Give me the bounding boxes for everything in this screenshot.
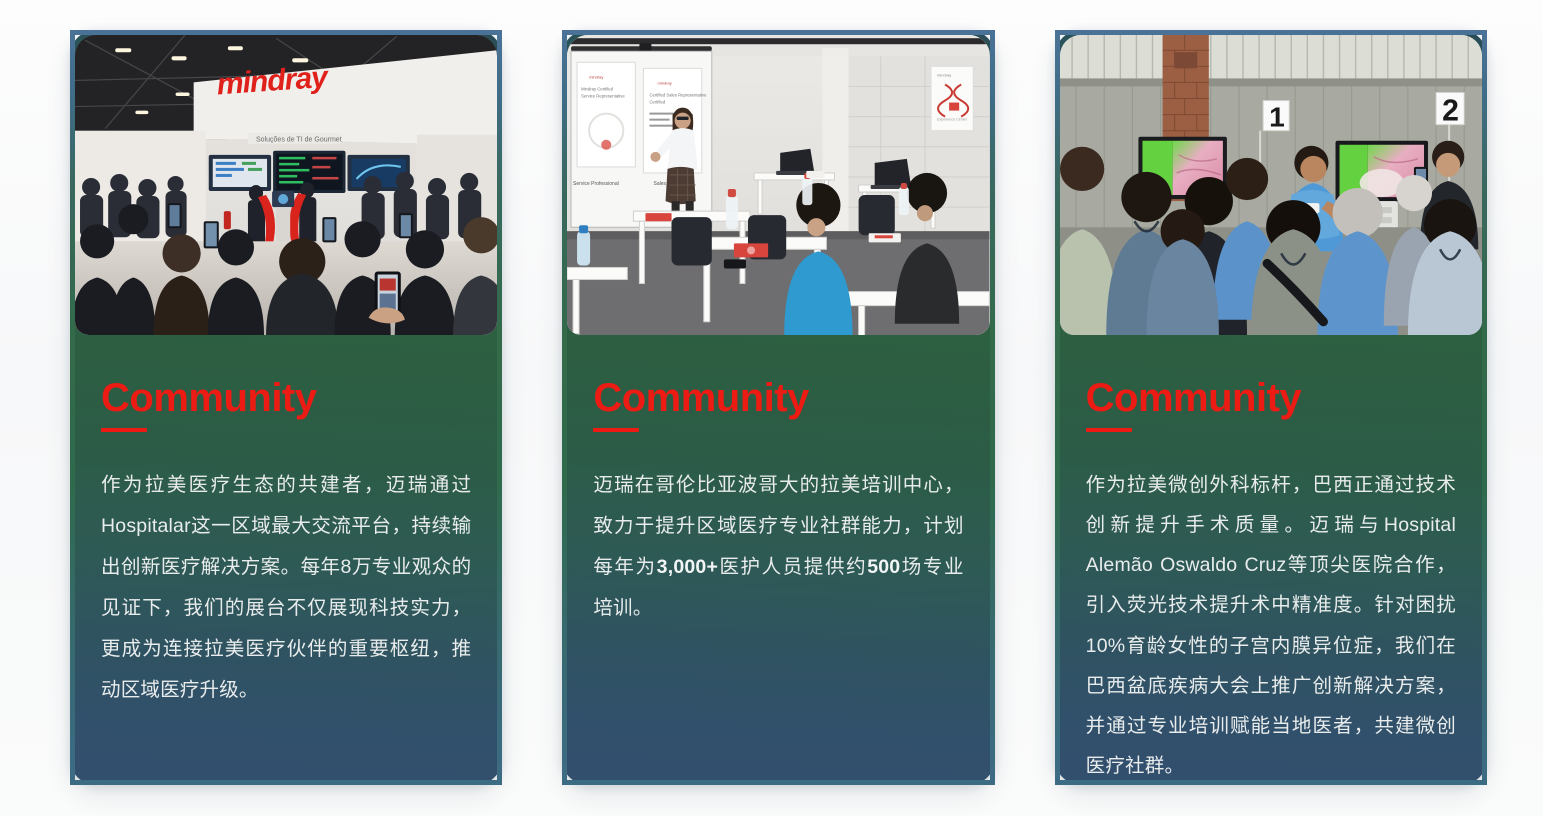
svg-text:Service Representative: Service Representative <box>581 94 625 99</box>
card-title: Community <box>1086 377 1456 419</box>
svg-text:Mindray Certified: Mindray Certified <box>581 86 614 91</box>
card-body: Community 作为拉美医疗生态的共建者，迈瑞通过Hospitalar这一区… <box>75 335 497 711</box>
card-description: 作为拉美医疗生态的共建者，迈瑞通过Hospitalar这一区域最大交流平台，持续… <box>101 465 471 711</box>
svg-text:2: 2 <box>1442 95 1459 128</box>
community-card[interactable]: mindray Experience Center mindray Mindra… <box>562 30 994 785</box>
community-cards-row: mindray Soluções de TI de Gourmet <box>0 0 1543 816</box>
title-underline <box>1086 428 1132 432</box>
community-card[interactable]: 1 2 <box>1055 30 1487 785</box>
card-title: Community <box>593 377 963 419</box>
card-description: 作为拉美微创外科标杆，巴西正通过技术创新提升手术质量。迈瑞与Hospital A… <box>1086 465 1456 785</box>
card-image-mindray-trade-show-booth-crowd: mindray Soluções de TI de Gourmet <box>75 35 497 335</box>
card-image-training-center-classroom-presentation: mindray Experience Center mindray Mindra… <box>567 35 989 335</box>
card-image-surgical-demo-audience-endoscopy-monitors: 1 2 <box>1060 35 1482 335</box>
svg-text:mindray: mindray <box>658 80 672 85</box>
svg-text:mindray: mindray <box>937 72 951 77</box>
svg-text:Experience Center: Experience Center <box>937 118 968 122</box>
title-underline <box>593 428 639 432</box>
svg-text:Certified Sales Representative: Certified Sales Representative <box>650 93 708 98</box>
svg-text:Service Professional: Service Professional <box>573 181 619 187</box>
card-body: Community 迈瑞在哥伦比亚波哥大的拉美培训中心，致力于提升区域医疗专业社… <box>567 335 989 629</box>
card-description: 迈瑞在哥伦比亚波哥大的拉美培训中心，致力于提升区域医疗专业社群能力，计划每年为3… <box>593 465 963 629</box>
svg-text:Sales: Sales <box>654 181 667 187</box>
card-title: Community <box>101 377 471 419</box>
community-card[interactable]: mindray Soluções de TI de Gourmet <box>70 30 502 785</box>
svg-text:Certified: Certified <box>650 100 666 105</box>
svg-text:mindray: mindray <box>589 74 603 79</box>
svg-text:Soluções de TI de Gourmet: Soluções de TI de Gourmet <box>256 137 342 144</box>
title-underline <box>101 428 147 432</box>
card-body: Community 作为拉美微创外科标杆，巴西正通过技术创新提升手术质量。迈瑞与… <box>1060 335 1482 785</box>
svg-text:1: 1 <box>1269 102 1285 133</box>
